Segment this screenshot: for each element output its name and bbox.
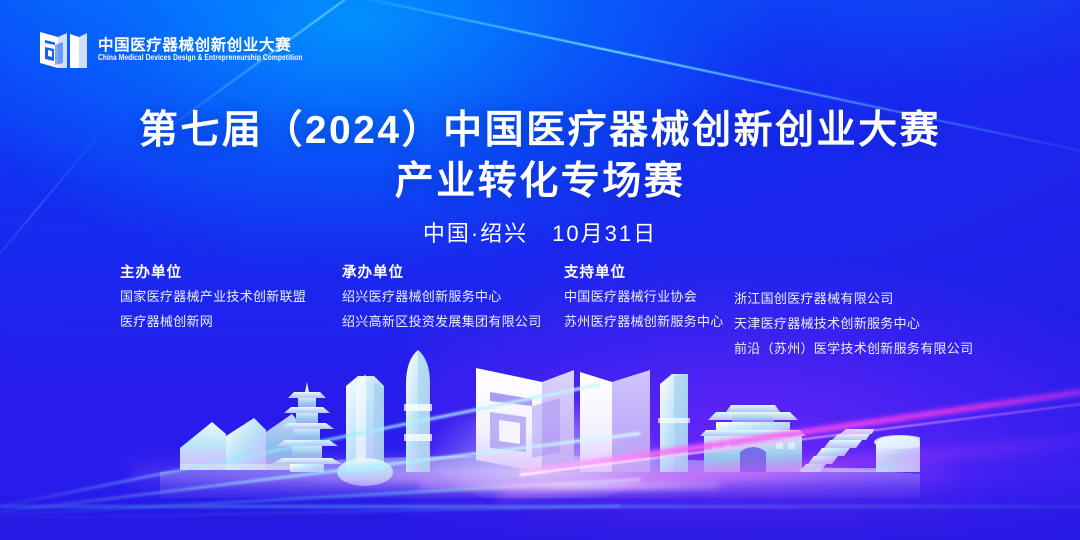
brand-logo: 中国医疗器械创新创业大赛 China Medical Devices Desig… bbox=[36, 24, 303, 74]
brand-logo-text: 中国医疗器械创新创业大赛 China Medical Devices Desig… bbox=[98, 36, 303, 62]
spire-tower-icon bbox=[404, 350, 432, 472]
page-title: 第七届（2024）中国医疗器械创新创业大赛 产业转化专场赛 bbox=[0, 108, 1080, 204]
organizer-column-supporter-extra: 浙江国创医疗器械有限公司 天津医疗器械技术创新服务中心 前沿（苏州）医学技术创新… bbox=[734, 266, 1004, 367]
organizer-item: 医疗器械创新网 bbox=[120, 315, 342, 328]
background-cyan-glow-secondary bbox=[605, 0, 1080, 97]
title-line-1: 第七届（2024）中国医疗器械创新创业大赛 bbox=[0, 108, 1080, 153]
title-line-2: 产业转化专场赛 bbox=[0, 159, 1080, 204]
organizer-heading: 主办单位 bbox=[120, 266, 342, 281]
brand-name-en: China Medical Devices Design & Entrepren… bbox=[98, 55, 303, 63]
brand-name-cn: 中国医疗器械创新创业大赛 bbox=[98, 38, 303, 54]
organizer-heading: 支持单位 bbox=[564, 266, 734, 281]
organizer-column-coorganizer: 承办单位 绍兴医疗器械创新服务中心 绍兴高新区投资发展集团有限公司 bbox=[342, 266, 564, 367]
organizer-column-supporter: 支持单位 中国医疗器械行业协会 苏州医疗器械创新服务中心 bbox=[564, 266, 734, 367]
organizer-item: 绍兴高新区投资发展集团有限公司 bbox=[342, 315, 564, 328]
organizer-item: 天津医疗器械技术创新服务中心 bbox=[734, 317, 1004, 330]
organizer-item: 中国医疗器械行业协会 bbox=[564, 290, 734, 303]
organizer-item: 前沿（苏州）医学技术创新服务有限公司 bbox=[734, 342, 1004, 355]
organizer-column-host: 主办单位 国家医疗器械产业技术创新联盟 医疗器械创新网 bbox=[120, 266, 342, 367]
organizer-heading: 承办单位 bbox=[342, 266, 564, 281]
ground-shadow bbox=[0, 478, 1080, 540]
glass-tower-icon bbox=[337, 374, 393, 486]
open-book-door-logo-icon bbox=[36, 24, 88, 74]
organizer-item: 绍兴医疗器械创新服务中心 bbox=[342, 290, 564, 303]
organizer-item: 国家医疗器械产业技术创新联盟 bbox=[120, 290, 342, 303]
skyline-svg bbox=[160, 348, 920, 498]
organizer-item: 浙江国创医疗器械有限公司 bbox=[734, 292, 1004, 305]
organizer-item: 苏州医疗器械创新服务中心 bbox=[564, 315, 734, 328]
organizers-section: 主办单位 国家医疗器械产业技术创新联盟 医疗器械创新网 承办单位 绍兴医疗器械创… bbox=[120, 266, 1004, 367]
event-location-date: 中国·绍兴 10月31日 bbox=[0, 216, 1080, 248]
event-banner: 中国医疗器械创新创业大赛 China Medical Devices Desig… bbox=[0, 0, 1080, 540]
